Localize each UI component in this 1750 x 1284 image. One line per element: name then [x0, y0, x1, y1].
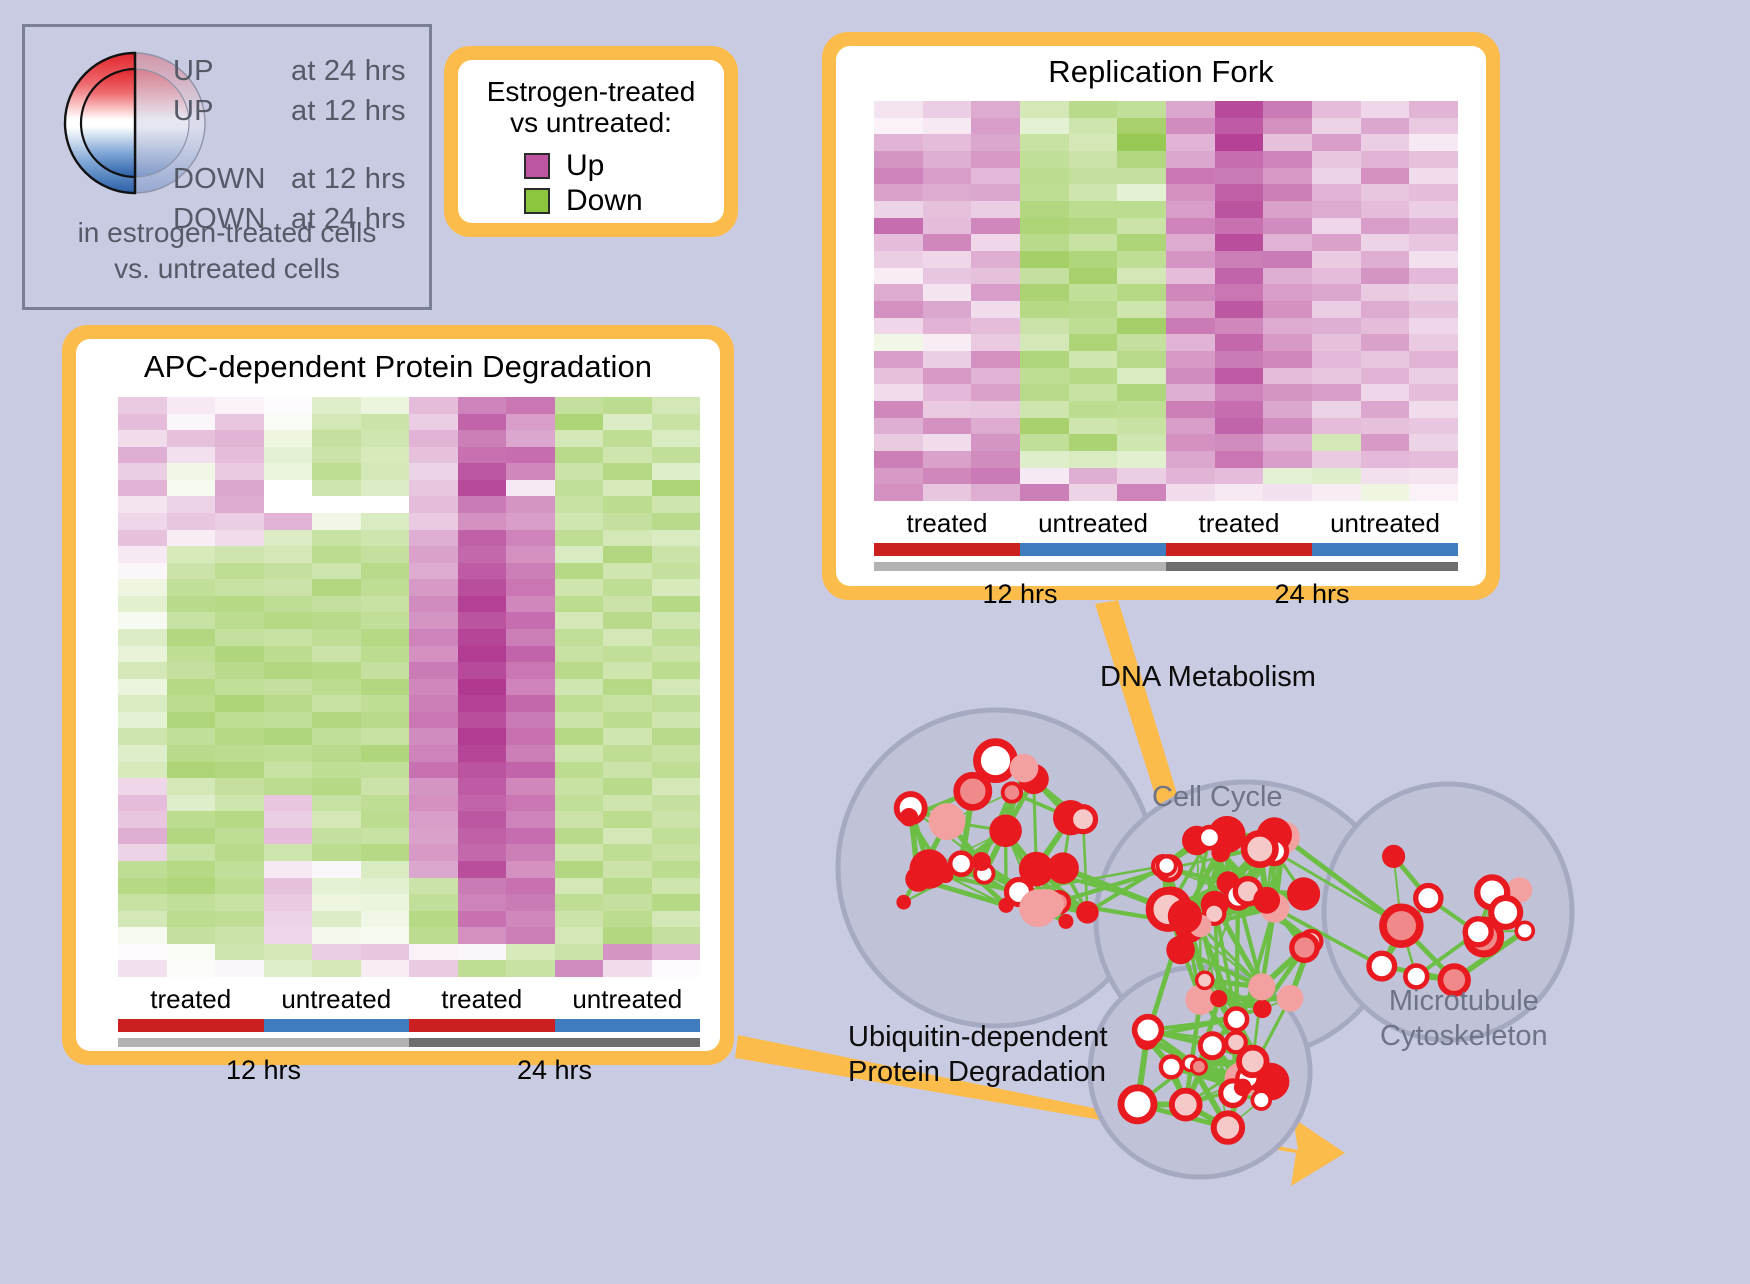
- apc-time-labels: 12 hrs 24 hrs: [118, 1051, 700, 1086]
- heatmap-cell: [1069, 484, 1118, 501]
- network-node[interactable]: [1287, 877, 1320, 910]
- network-node[interactable]: [1465, 919, 1491, 945]
- heatmap-cell: [264, 662, 313, 679]
- heatmap-cell: [971, 384, 1020, 401]
- network-node[interactable]: [1382, 845, 1405, 868]
- heatmap-cell: [215, 894, 264, 911]
- heatmap-cell: [312, 530, 361, 547]
- network-node[interactable]: [929, 803, 966, 840]
- heatmap-cell: [409, 712, 458, 729]
- heatmap-cell: [1020, 251, 1069, 268]
- heatmap-cell: [361, 579, 410, 596]
- heatmap-cell: [264, 878, 313, 895]
- heatmap-cell: [652, 397, 701, 414]
- heatmap-cell: [409, 463, 458, 480]
- heatmap-cell: [215, 596, 264, 613]
- heatmap-cell: [1166, 318, 1215, 335]
- heatmap-cell: [1312, 284, 1361, 301]
- heatmap-cell: [118, 629, 167, 646]
- network-node[interactable]: [1192, 1059, 1207, 1074]
- heatmap-cell: [603, 778, 652, 795]
- replication-fork-title: Replication Fork: [836, 46, 1486, 90]
- network-node[interactable]: [1253, 1000, 1272, 1019]
- heatmap-cell: [1069, 168, 1118, 185]
- heatmap-cell: [1117, 184, 1166, 201]
- heatmap-cell: [1215, 451, 1264, 468]
- heatmap-cell: [409, 778, 458, 795]
- network-node[interactable]: [1248, 973, 1275, 1000]
- heatmap-cell: [264, 728, 313, 745]
- heatmap-cell: [409, 496, 458, 513]
- heatmap-cell: [923, 201, 972, 218]
- heatmap-cell: [1069, 134, 1118, 151]
- heatmap-cell: [1263, 251, 1312, 268]
- heatmap-cell: [1166, 401, 1215, 418]
- network-node[interactable]: [1076, 901, 1099, 924]
- heatmap-cell: [1166, 251, 1215, 268]
- heatmap-cell: [312, 496, 361, 513]
- heatmap-cell: [361, 728, 410, 745]
- network-node[interactable]: [1226, 1033, 1246, 1053]
- heatmap-cell: [1409, 468, 1458, 485]
- heatmap-cell: [1361, 418, 1410, 435]
- heatmap-cell: [506, 712, 555, 729]
- heatmap-cell: [409, 530, 458, 547]
- network-node[interactable]: [957, 775, 989, 807]
- heatmap-cell: [167, 828, 216, 845]
- heatmap-cell: [1361, 368, 1410, 385]
- heatmap-cell: [1409, 234, 1458, 251]
- network-node[interactable]: [1158, 857, 1176, 875]
- heatmap-cell: [118, 762, 167, 779]
- heatmap-cell: [458, 745, 507, 762]
- heatmap-cell: [1361, 151, 1410, 168]
- heatmap-cell: [1020, 234, 1069, 251]
- heatmap-cell: [1263, 284, 1312, 301]
- network-node[interactable]: [905, 866, 930, 891]
- heatmap-cell: [971, 434, 1020, 451]
- heatmap-cell: [971, 268, 1020, 285]
- heatmap-cell: [506, 795, 555, 812]
- heatmap-cell: [458, 397, 507, 414]
- heatmap-cell: [1409, 151, 1458, 168]
- heatmap-cell: [1215, 484, 1264, 501]
- heatmap-cell: [1020, 401, 1069, 418]
- heatmap-cell: [971, 251, 1020, 268]
- apc-condition-labels: treated untreated treated untreated: [118, 984, 700, 1019]
- heatmap-cell: [1215, 301, 1264, 318]
- heatmap-cell: [506, 944, 555, 961]
- network-node[interactable]: [1383, 907, 1420, 944]
- heatmap-cell: [1312, 334, 1361, 351]
- heatmap-cell: [167, 927, 216, 944]
- heatmap-cell: [652, 546, 701, 563]
- heatmap-cell: [1215, 401, 1264, 418]
- heatmap-cell: [409, 397, 458, 414]
- heatmap-cell: [1263, 318, 1312, 335]
- network-node[interactable]: [1166, 936, 1195, 965]
- time-bar-12: [874, 562, 1166, 571]
- heatmap-cell: [506, 679, 555, 696]
- heatmap-cell: [312, 579, 361, 596]
- heatmap-cell: [1409, 284, 1458, 301]
- network-node[interactable]: [1416, 886, 1441, 911]
- heatmap-cell: [603, 795, 652, 812]
- heatmap-cell: [1020, 218, 1069, 235]
- heatmap-cell: [1069, 451, 1118, 468]
- heatmap-cell: [1361, 184, 1410, 201]
- heatmap-cell: [652, 530, 701, 547]
- heatmap-cell: [361, 430, 410, 447]
- network-node[interactable]: [1200, 1034, 1224, 1058]
- heatmap-cell: [1263, 168, 1312, 185]
- heatmap-cell: [264, 397, 313, 414]
- heatmap-cell: [1263, 384, 1312, 401]
- heatmap-cell: [603, 596, 652, 613]
- heatmap-cell: [506, 430, 555, 447]
- heatmap-cell: [555, 828, 604, 845]
- heatmap-cell: [264, 927, 313, 944]
- network-node[interactable]: [1161, 1057, 1182, 1078]
- heatmap-cell: [1312, 151, 1361, 168]
- heatmap-cell: [118, 695, 167, 712]
- heatmap-cell: [603, 397, 652, 414]
- heatmap-cell: [264, 563, 313, 580]
- cond-bar-3: [1312, 543, 1458, 556]
- heatmap-cell: [215, 695, 264, 712]
- heatmap-cell: [1117, 151, 1166, 168]
- heatmap-cell: [1117, 284, 1166, 301]
- heatmap-cell: [215, 728, 264, 745]
- heatmap-cell: [312, 563, 361, 580]
- heatmap-cell: [555, 795, 604, 812]
- heatmap-cell: [923, 401, 972, 418]
- heatmap-cell: [555, 712, 604, 729]
- heatmap-cell: [1069, 434, 1118, 451]
- key-word-up-24: UP: [173, 55, 291, 88]
- cond-bar-1: [264, 1019, 410, 1032]
- heatmap-cell: [1117, 318, 1166, 335]
- network-node[interactable]: [989, 815, 1022, 848]
- apc-condition-bar: [118, 1019, 700, 1032]
- network-node[interactable]: [1244, 833, 1275, 864]
- heatmap-cell: [652, 811, 701, 828]
- heatmap-cell: [1263, 201, 1312, 218]
- network-node[interactable]: [950, 853, 972, 875]
- heatmap-cell: [409, 513, 458, 530]
- network-node[interactable]: [972, 852, 991, 871]
- heatmap-cell: [409, 679, 458, 696]
- heatmap-cell: [652, 745, 701, 762]
- network-node[interactable]: [1197, 972, 1213, 988]
- heatmap-cell: [361, 530, 410, 547]
- heatmap-cell: [215, 430, 264, 447]
- heatmap-cell: [1215, 434, 1264, 451]
- heatmap-cell: [409, 795, 458, 812]
- heatmap-cell: [264, 795, 313, 812]
- heatmap-cell: [652, 480, 701, 497]
- network-node[interactable]: [1234, 1079, 1252, 1097]
- heatmap-cell: [167, 563, 216, 580]
- heatmap-cell: [603, 579, 652, 596]
- network-node[interactable]: [1214, 1113, 1242, 1141]
- heatmap-cell: [971, 351, 1020, 368]
- network-node[interactable]: [977, 742, 1014, 779]
- heatmap-cell: [361, 861, 410, 878]
- time-label-24: 24 hrs: [1166, 575, 1458, 610]
- heatmap-cell: [118, 828, 167, 845]
- network-node[interactable]: [1172, 1091, 1200, 1119]
- heatmap-cell: [603, 944, 652, 961]
- heatmap-cell: [409, 430, 458, 447]
- heatmap-cell: [555, 480, 604, 497]
- heatmap-cell: [971, 401, 1020, 418]
- heatmap-cell: [118, 447, 167, 464]
- heatmap-cell: [1069, 201, 1118, 218]
- heatmap-cell: [1166, 234, 1215, 251]
- heatmap-cell: [361, 496, 410, 513]
- heatmap-cell: [409, 480, 458, 497]
- heatmap-cell: [555, 646, 604, 663]
- heatmap-cell: [215, 944, 264, 961]
- heatmap-cell: [923, 218, 972, 235]
- heatmap-cell: [555, 778, 604, 795]
- heatmap-cell: [971, 101, 1020, 118]
- cond-label-2: treated: [1166, 508, 1312, 543]
- apc-degradation-title: APC-dependent Protein Degradation: [76, 339, 720, 385]
- heatmap-cell: [1312, 251, 1361, 268]
- heatmap-cell: [1409, 218, 1458, 235]
- network-node[interactable]: [1135, 1017, 1162, 1044]
- heatmap-cell: [215, 844, 264, 861]
- heatmap-cell: [1263, 134, 1312, 151]
- network-node[interactable]: [1226, 1009, 1248, 1031]
- heatmap-cell: [312, 944, 361, 961]
- heatmap-cell: [652, 579, 701, 596]
- heatmap-cell: [874, 268, 923, 285]
- heatmap-cell: [652, 414, 701, 431]
- heatmap-cell: [1069, 234, 1118, 251]
- network-node[interactable]: [1058, 914, 1073, 929]
- network-node[interactable]: [896, 895, 911, 910]
- heatmap-cell: [874, 101, 923, 118]
- heatmap-cell: [874, 284, 923, 301]
- network-node[interactable]: [1003, 783, 1021, 801]
- heatmap-cell: [409, 563, 458, 580]
- heatmap-cell: [264, 778, 313, 795]
- heatmap-cell: [1312, 268, 1361, 285]
- heatmap-cell: [971, 201, 1020, 218]
- heatmap-cell: [1263, 434, 1312, 451]
- cond-label-3: untreated: [1312, 508, 1458, 543]
- heatmap-cell: [215, 927, 264, 944]
- heatmap-cell: [361, 646, 410, 663]
- heatmap-cell: [506, 778, 555, 795]
- cond-bar-2: [1166, 543, 1312, 556]
- network-node[interactable]: [1369, 953, 1395, 979]
- heatmap-cell: [1020, 168, 1069, 185]
- heatmap-cell: [555, 430, 604, 447]
- network-node[interactable]: [1047, 852, 1079, 884]
- heatmap-cell: [1020, 318, 1069, 335]
- network-node[interactable]: [1010, 754, 1039, 783]
- cond-bar-3: [555, 1019, 701, 1032]
- heatmap-cell: [167, 944, 216, 961]
- network-node[interactable]: [1211, 843, 1230, 862]
- heatmap-cell: [1117, 234, 1166, 251]
- heatmap-cell: [1263, 218, 1312, 235]
- heatmap-cell: [167, 745, 216, 762]
- heatmap-cell: [118, 811, 167, 828]
- heatmap-cell: [215, 828, 264, 845]
- heatmap-cell: [118, 911, 167, 928]
- heatmap-cell: [506, 496, 555, 513]
- heatmap-cell: [167, 629, 216, 646]
- heatmap-cell: [264, 960, 313, 977]
- heatmap-cell: [1409, 401, 1458, 418]
- heatmap-cell: [1166, 218, 1215, 235]
- cond-label-0: treated: [874, 508, 1020, 543]
- heatmap-cell: [361, 563, 410, 580]
- key-box: UP at 24 hrs UP at 12 hrs DOWN at 12 hrs…: [22, 24, 432, 310]
- heatmap-cell: [264, 828, 313, 845]
- heatmap-cell: [874, 168, 923, 185]
- heatmap-cell: [1409, 118, 1458, 135]
- heatmap-cell: [555, 894, 604, 911]
- heatmap-cell: [361, 811, 410, 828]
- key-row-up-12: UP at 12 hrs: [173, 95, 423, 135]
- heatmap-cell: [264, 679, 313, 696]
- heatmap-cell: [458, 861, 507, 878]
- heatmap-cell: [1215, 468, 1264, 485]
- heatmap-cell: [167, 447, 216, 464]
- heatmap-cell: [1263, 418, 1312, 435]
- heatmap-cell: [874, 318, 923, 335]
- heatmap-cell: [1020, 184, 1069, 201]
- network-node[interactable]: [1277, 985, 1304, 1012]
- heatmap-cell: [312, 695, 361, 712]
- heatmap-cell: [1117, 468, 1166, 485]
- heatmap-cell: [167, 546, 216, 563]
- key-time-down-12: at 12 hrs: [291, 163, 406, 196]
- heatmap-cell: [506, 828, 555, 845]
- heatmap-cell: [971, 168, 1020, 185]
- heatmap-cell: [1263, 268, 1312, 285]
- heatmap-cell: [1069, 351, 1118, 368]
- heatmap-cell: [1361, 268, 1410, 285]
- heatmap-cell: [1215, 384, 1264, 401]
- heatmap-cell: [603, 728, 652, 745]
- heatmap-cell: [971, 284, 1020, 301]
- heatmap-cell: [458, 646, 507, 663]
- heatmap-cell: [458, 612, 507, 629]
- heatmap-cell: [312, 778, 361, 795]
- heatmap-cell: [652, 728, 701, 745]
- key-word-up-12: UP: [173, 95, 291, 128]
- legend-label-up: Up: [566, 149, 604, 183]
- network-node[interactable]: [1071, 807, 1096, 832]
- heatmap-cell: [652, 878, 701, 895]
- heatmap-cell: [874, 151, 923, 168]
- cond-bar-2: [409, 1019, 555, 1032]
- heatmap-cell: [874, 118, 923, 135]
- heatmap-cell: [1312, 234, 1361, 251]
- heatmap-cell: [652, 447, 701, 464]
- heatmap-cell: [264, 447, 313, 464]
- heatmap-cell: [1361, 351, 1410, 368]
- heatmap-cell: [506, 861, 555, 878]
- heatmap-cell: [874, 301, 923, 318]
- heatmap-cell: [409, 944, 458, 961]
- heatmap-cell: [1069, 334, 1118, 351]
- network-node[interactable]: [900, 808, 918, 826]
- legend-swatch-up: [524, 153, 550, 179]
- heatmap-cell: [603, 878, 652, 895]
- network-node[interactable]: [1033, 889, 1062, 918]
- heatmap-cell: [1020, 201, 1069, 218]
- heatmap-cell: [458, 911, 507, 928]
- heatmap-cell: [409, 811, 458, 828]
- heatmap-cell: [603, 447, 652, 464]
- heatmap-cell: [118, 861, 167, 878]
- heatmap-cell: [458, 629, 507, 646]
- network-node[interactable]: [1121, 1088, 1154, 1121]
- heatmap-cell: [312, 828, 361, 845]
- cluster-label-dna-metabolism: DNA Metabolism: [1100, 660, 1316, 695]
- heatmap-cell: [1166, 418, 1215, 435]
- heatmap-cell: [603, 927, 652, 944]
- heatmap-cell: [1166, 451, 1215, 468]
- heatmap-cell: [118, 480, 167, 497]
- network-node[interactable]: [1253, 887, 1280, 914]
- network-node[interactable]: [1292, 935, 1317, 960]
- heatmap-cell: [167, 960, 216, 977]
- heatmap-cell: [312, 463, 361, 480]
- heatmap-cell: [361, 944, 410, 961]
- heatmap-cell: [458, 795, 507, 812]
- heatmap-cell: [118, 745, 167, 762]
- heatmap-cell: [264, 861, 313, 878]
- cluster-label-cell-cycle: Cell Cycle: [1152, 780, 1283, 815]
- heatmap-cell: [458, 496, 507, 513]
- heatmap-cell: [312, 911, 361, 928]
- heatmap-cell: [167, 728, 216, 745]
- heatmap-cell: [923, 251, 972, 268]
- network-node[interactable]: [1168, 899, 1202, 933]
- network-node[interactable]: [1210, 990, 1227, 1007]
- heatmap-cell: [874, 418, 923, 435]
- heatmap-cell: [1117, 351, 1166, 368]
- heatmap-cell: [1312, 451, 1361, 468]
- time-label-12: 12 hrs: [874, 575, 1166, 610]
- network-node[interactable]: [1516, 922, 1533, 939]
- heatmap-cell: [1361, 284, 1410, 301]
- heatmap-cell: [312, 397, 361, 414]
- heatmap-cell: [971, 468, 1020, 485]
- heatmap-cell: [1117, 301, 1166, 318]
- heatmap-cell: [1117, 434, 1166, 451]
- heatmap-cell: [264, 911, 313, 928]
- heatmap-cell: [215, 563, 264, 580]
- heatmap-cell: [361, 546, 410, 563]
- cond-label-3: untreated: [555, 984, 701, 1019]
- network-node[interactable]: [1252, 1091, 1270, 1109]
- heatmap-cell: [264, 762, 313, 779]
- heatmap-cell: [361, 629, 410, 646]
- heatmap-cell: [555, 960, 604, 977]
- heatmap-cell: [923, 451, 972, 468]
- pathway-network-diagram: DNA Metabolism Cell Cycle Microtubule Cy…: [800, 620, 1750, 1279]
